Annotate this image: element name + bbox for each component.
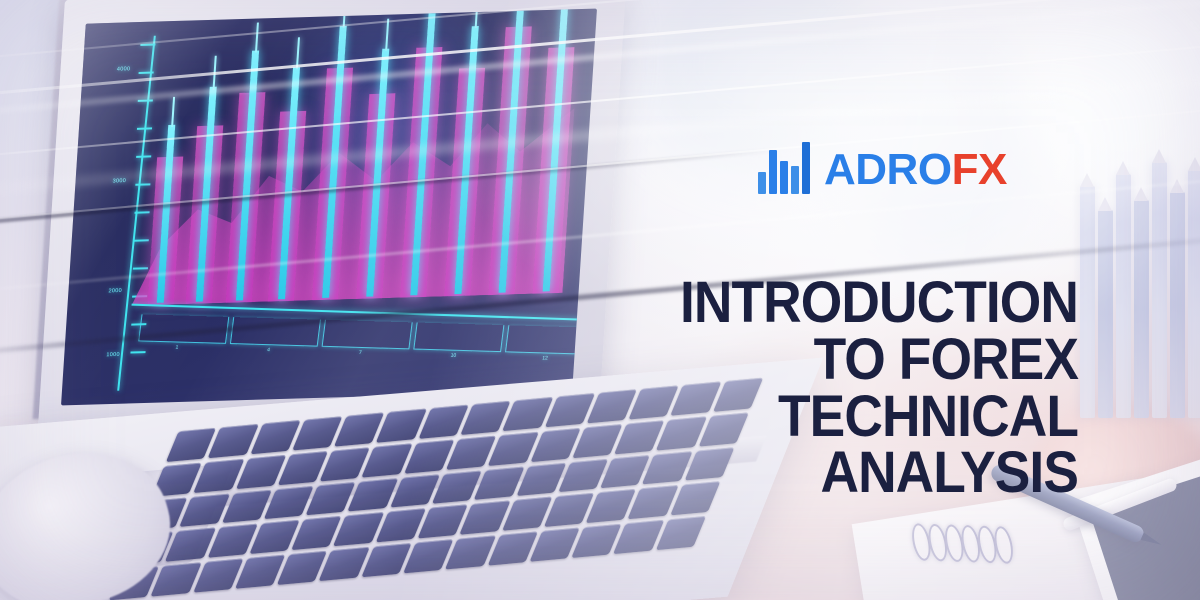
bar-chart-logo-icon xyxy=(758,138,810,194)
title-line-4: ANALYSIS xyxy=(600,445,1078,502)
page-title: INTRODUCTION TO FOREX TECHNICAL ANALYSIS xyxy=(600,275,1078,502)
logo-bar xyxy=(769,150,777,194)
logo-bar xyxy=(802,142,810,194)
brand-name-accent: FX xyxy=(952,145,1007,194)
logo-bar xyxy=(758,172,766,194)
hero-banner: 4000 3000 2000 1000 xyxy=(0,0,1200,600)
brand-logo[interactable]: ADROFX xyxy=(758,138,1007,194)
brand-name: ADROFX xyxy=(824,148,1007,192)
banner-content: ADROFX INTRODUCTION TO FOREX TECHNICAL A… xyxy=(0,0,1200,600)
title-line-3: TECHNICAL xyxy=(600,389,1078,446)
title-line-2: TO FOREX xyxy=(600,332,1078,389)
logo-bar xyxy=(780,161,788,194)
logo-bar xyxy=(791,166,799,194)
brand-name-primary: ADRO xyxy=(824,145,952,194)
title-line-1: INTRODUCTION xyxy=(600,275,1078,332)
